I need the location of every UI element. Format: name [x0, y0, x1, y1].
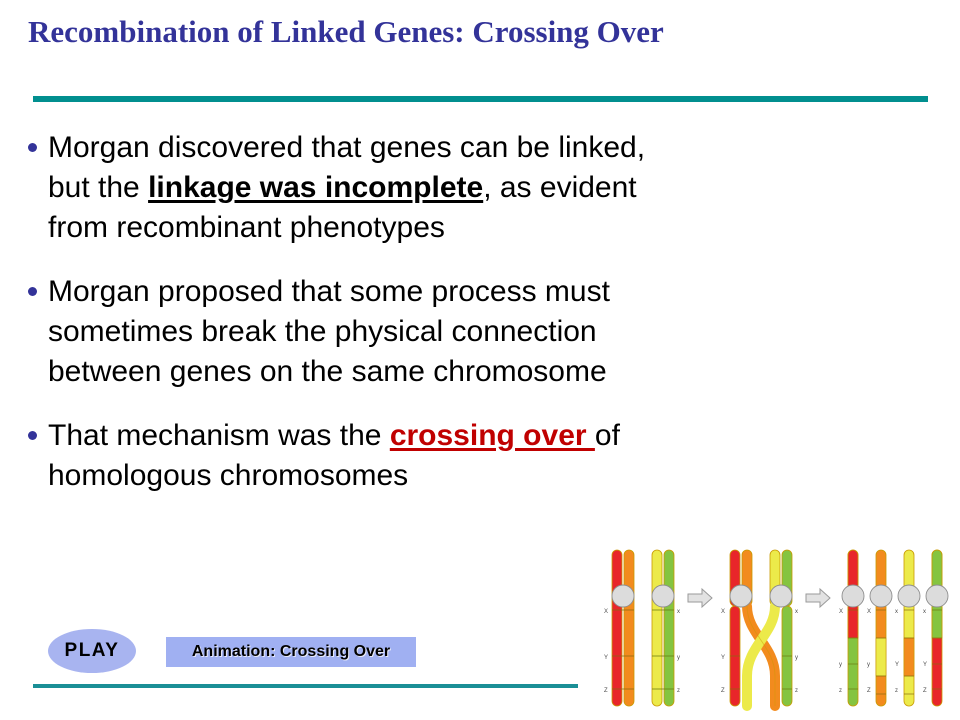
- label-X: X: [721, 609, 725, 615]
- bullet-marker-icon: [22, 128, 48, 168]
- bullet-segment-emphasis-red: crossing over: [390, 419, 595, 452]
- label-X: X: [839, 609, 843, 615]
- animation-link-label: Animation: Crossing Over: [192, 643, 390, 661]
- page-title: Recombination of Linked Genes: Crossing …: [28, 14, 928, 50]
- label-Y: Y: [923, 662, 927, 668]
- recombinant-2: X y Z: [867, 550, 892, 706]
- title-divider-top: [33, 96, 928, 102]
- label-X: X: [604, 609, 608, 615]
- list-item: Morgan proposed that some process must s…: [22, 272, 902, 392]
- label-Z: Z: [923, 688, 927, 694]
- label-z: z: [677, 688, 680, 694]
- stage-crossover: X Y Z x y z: [721, 550, 798, 706]
- crossing-over-diagram: X Y Z x y z: [604, 546, 956, 716]
- label-y: y: [795, 655, 798, 661]
- label-y: y: [839, 662, 842, 668]
- label-x: x: [795, 609, 798, 615]
- label-z: z: [895, 688, 898, 694]
- label-Y: Y: [604, 655, 608, 661]
- stage-homologous-pair: X Y Z x y z: [604, 550, 680, 706]
- label-y: y: [867, 662, 870, 668]
- label-y: y: [677, 655, 680, 661]
- label-z: z: [839, 688, 842, 694]
- bullet-segment-plain: That mechanism was the: [48, 419, 390, 452]
- list-item: That mechanism was the crossing over of …: [22, 416, 902, 496]
- recombinant-3: x Y z: [895, 550, 920, 706]
- recombinant-1: X y z: [839, 550, 864, 706]
- arrow-icon-2: [806, 589, 830, 607]
- label-x: x: [923, 609, 926, 615]
- bullet-list: Morgan discovered that genes can be link…: [22, 128, 902, 496]
- label-X: X: [867, 609, 871, 615]
- play-button[interactable]: PLAY: [48, 629, 136, 673]
- label-z: z: [795, 688, 798, 694]
- label-x: x: [895, 609, 898, 615]
- arrow-icon-1: [688, 589, 712, 607]
- bullet-marker-icon: [22, 272, 48, 312]
- label-Z: Z: [604, 688, 608, 694]
- slide-canvas: Recombination of Linked Genes: Crossing …: [0, 0, 960, 720]
- bullet-text-1: Morgan discovered that genes can be link…: [48, 128, 668, 248]
- label-Y: Y: [895, 662, 899, 668]
- bullet-text-2: Morgan proposed that some process must s…: [48, 272, 658, 392]
- footer-divider: [33, 684, 578, 688]
- label-x: x: [677, 609, 680, 615]
- label-Z: Z: [867, 688, 871, 694]
- label-Y: Y: [721, 655, 725, 661]
- bullet-segment-emphasis: linkage was incomplete: [148, 171, 483, 204]
- bullet-segment-plain: Morgan proposed that some process must s…: [48, 275, 610, 388]
- recombinant-4: x Y Z: [923, 550, 948, 706]
- label-Z: Z: [721, 688, 725, 694]
- animation-link[interactable]: Animation: Crossing Over: [166, 637, 416, 667]
- list-item: Morgan discovered that genes can be link…: [22, 128, 902, 248]
- stage-recombinants: X y z X y Z: [839, 550, 948, 706]
- bullet-marker-icon: [22, 416, 48, 456]
- play-button-label: PLAY: [65, 640, 120, 662]
- bullet-text-3: That mechanism was the crossing over of …: [48, 416, 658, 496]
